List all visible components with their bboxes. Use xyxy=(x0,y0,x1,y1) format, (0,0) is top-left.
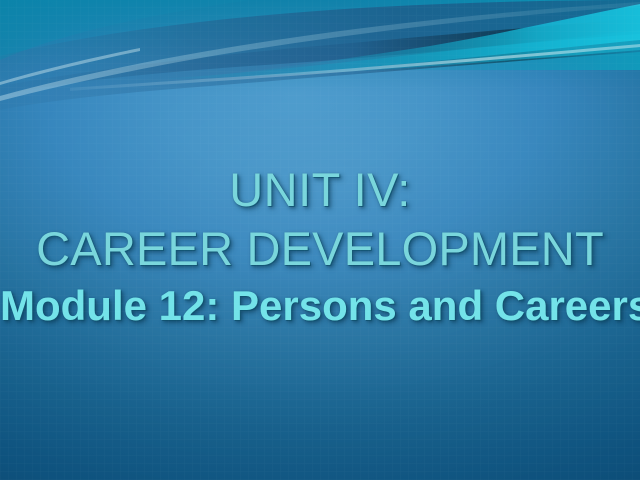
slide-text-block: UNIT IV: CAREER DEVELOPMENT Module 12: P… xyxy=(0,160,640,332)
slide-title-line-2: CAREER DEVELOPMENT xyxy=(0,219,640,278)
slide-title-line-1: UNIT IV: xyxy=(0,160,640,219)
slide-subtitle: Module 12: Persons and Careers xyxy=(0,280,640,332)
flow-wave-decoration-icon xyxy=(0,0,640,110)
title-slide: UNIT IV: CAREER DEVELOPMENT Module 12: P… xyxy=(0,0,640,480)
